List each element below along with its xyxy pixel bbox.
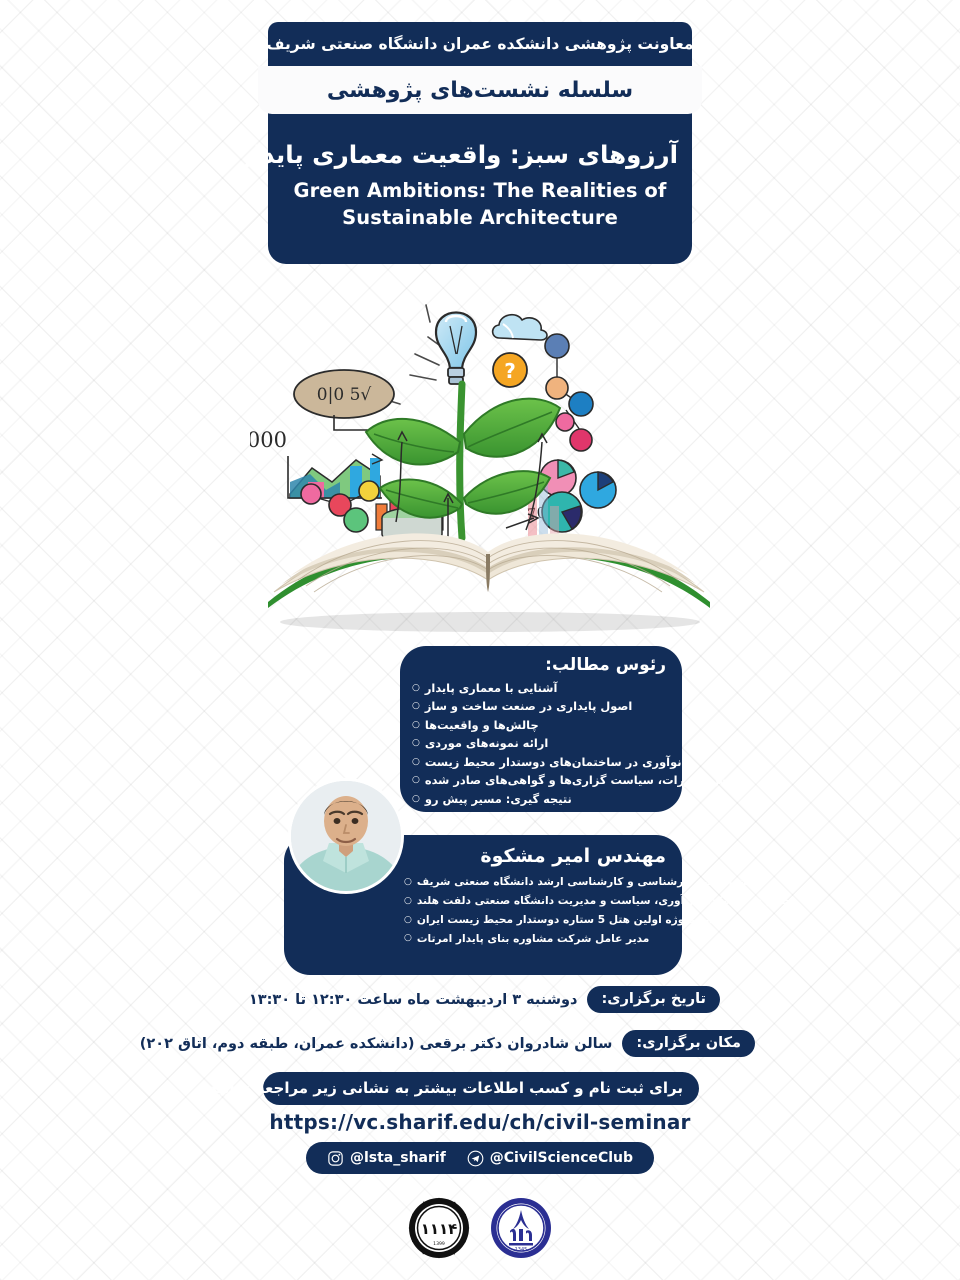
bullet-icon: ○ xyxy=(412,758,420,767)
bullet-icon: ○ xyxy=(412,776,420,785)
bullet-icon: ○ xyxy=(412,721,420,730)
list-item: ○ نقش مقررات، سیاست گزاری‌ها و گواهی‌های… xyxy=(412,771,666,789)
svg-text:√5 0|0: √5 0|0 xyxy=(317,385,372,405)
instagram-handle-item[interactable]: @lsta_sharif xyxy=(327,1150,446,1167)
credential-label: مدیر عامل شرکت مشاوره بنای پایدار امرتات xyxy=(417,930,649,949)
speaker-name: مهندس امیر مشکوة xyxy=(404,845,666,867)
credential-label: محقق در دانشکده فن‌آوری، سیاست و مدیریت … xyxy=(417,892,797,911)
place-label: مکان برگزاری: xyxy=(622,1030,755,1057)
title-english-line2: Sustainable Architecture xyxy=(282,205,678,232)
list-item: ○ ارائه نمونه‌های موردی xyxy=(412,734,666,752)
list-item: ○ آشنایی با معماری پایدار xyxy=(412,679,666,697)
civil-science-club-logo: ۱۱۱۴ 1399 xyxy=(407,1196,471,1260)
date-value: دوشنبه ۳ اردیبهشت ماه ساعت ۱۲:۳۰ تا ۱۳:۳… xyxy=(249,992,578,1008)
bullet-icon: ○ xyxy=(412,684,420,693)
svg-text:۱۱۱۴: ۱۱۱۴ xyxy=(421,1220,458,1238)
list-item: ○ چالش‌ها و واقعیت‌ها xyxy=(412,716,666,734)
series-ribbon: سلسله نشست‌های پژوهشی xyxy=(258,66,702,114)
telegram-handle-label: @CivilScienceClub xyxy=(490,1150,633,1166)
svg-text:1345: 1345 xyxy=(515,1247,528,1253)
open-book-idea-plant-illustration: ? √5 0|0 10,000 70,000 xyxy=(250,292,730,632)
telegram-icon xyxy=(467,1150,484,1167)
topic-label: نقش مقررات، سیاست گزاری‌ها و گواهی‌های ص… xyxy=(425,771,739,789)
credential-label: مدیر پروژه اولین هتل 5 ستاره دوستدار محی… xyxy=(417,911,722,930)
title-panel: آرزوهای سبز: واقعیت معماری پایدار Green … xyxy=(268,100,692,264)
organizer-band: معاونت پژوهشی دانشکده عمران دانشگاه صنعت… xyxy=(268,22,692,66)
place-row: مکان برگزاری: سالن شادروان دکتر برقعی (د… xyxy=(140,1030,755,1057)
svg-text:10,000: 10,000 xyxy=(250,428,287,452)
list-item: ○ محقق در دانشکده فن‌آوری، سیاست و مدیری… xyxy=(404,892,666,911)
bullet-icon: ○ xyxy=(412,702,420,711)
telegram-handle-item[interactable]: @CivilScienceClub xyxy=(467,1150,633,1167)
topic-label: نوآوری در ساختمان‌های دوستدار محیط زیست xyxy=(425,753,682,771)
place-value: سالن شادروان دکتر برقعی (دانشکده عمران، … xyxy=(140,1036,613,1052)
instagram-icon xyxy=(327,1150,344,1167)
social-bar: @CivilScienceClub @lsta_sharif xyxy=(306,1142,654,1174)
bullet-icon: ○ xyxy=(412,795,420,804)
list-item: ○ نوآوری در ساختمان‌های دوستدار محیط زیس… xyxy=(412,753,666,771)
registration-url-link[interactable]: https://vc.sharif.edu/ch/civil-seminar xyxy=(0,1110,960,1134)
topics-panel: رئوس مطالب: ○ آشنایی با معماری پایدار ○ … xyxy=(400,646,682,812)
topic-label: چالش‌ها و واقعیت‌ها xyxy=(425,716,539,734)
credential-label: دانش‌آموخته کارشناسی و کارشناسی ارشد دان… xyxy=(417,873,761,892)
topics-list: ○ آشنایی با معماری پایدار ○ اصول پایداری… xyxy=(412,679,666,808)
bullet-icon: ○ xyxy=(404,878,412,887)
sharif-university-logo: 1345 xyxy=(489,1196,553,1260)
svg-text:1399: 1399 xyxy=(433,1241,445,1247)
title-persian: آرزوهای سبز: واقعیت معماری پایدار xyxy=(282,138,678,171)
logo-row: 1345 ۱۱۱۴ xyxy=(0,1196,960,1260)
bullet-icon: ○ xyxy=(404,897,412,906)
bullet-icon: ○ xyxy=(404,916,412,925)
poster-root: معاونت پژوهشی دانشکده عمران دانشگاه صنعت… xyxy=(0,0,960,1280)
topic-label: آشنایی با معماری پایدار xyxy=(425,679,558,697)
instagram-handle-label: @lsta_sharif xyxy=(350,1150,446,1166)
list-item: ○ مدیر پروژه اولین هتل 5 ستاره دوستدار م… xyxy=(404,911,666,930)
svg-text:?: ? xyxy=(504,359,516,383)
avatar xyxy=(291,781,401,891)
bullet-icon: ○ xyxy=(412,739,420,748)
topics-heading: رئوس مطالب: xyxy=(412,655,666,675)
topic-label: اصول پایداری در صنعت ساخت و ساز xyxy=(425,697,632,715)
list-item: ○ مدیر عامل شرکت مشاوره بنای پایدار امرت… xyxy=(404,930,666,949)
list-item: ○ دانش‌آموخته کارشناسی و کارشناسی ارشد د… xyxy=(404,873,666,892)
title-english-line1: Green Ambitions: The Realities of xyxy=(282,178,678,205)
speaker-credentials-list: ○ دانش‌آموخته کارشناسی و کارشناسی ارشد د… xyxy=(404,873,666,948)
list-item: ○ اصول پایداری در صنعت ساخت و ساز xyxy=(412,697,666,715)
registration-cta: برای ثبت نام و کسب اطلاعات بیشتر به نشان… xyxy=(263,1072,699,1105)
date-label: تاریخ برگزاری: xyxy=(587,986,720,1013)
bullet-icon: ○ xyxy=(404,934,412,943)
date-row: تاریخ برگزاری: دوشنبه ۳ اردیبهشت ماه ساع… xyxy=(249,986,720,1013)
list-item: ○ نتیجه گیری: مسیر پیش رو xyxy=(412,790,666,808)
topic-label: نتیجه گیری: مسیر پیش رو xyxy=(425,790,572,808)
topic-label: ارائه نمونه‌های موردی xyxy=(425,734,548,752)
